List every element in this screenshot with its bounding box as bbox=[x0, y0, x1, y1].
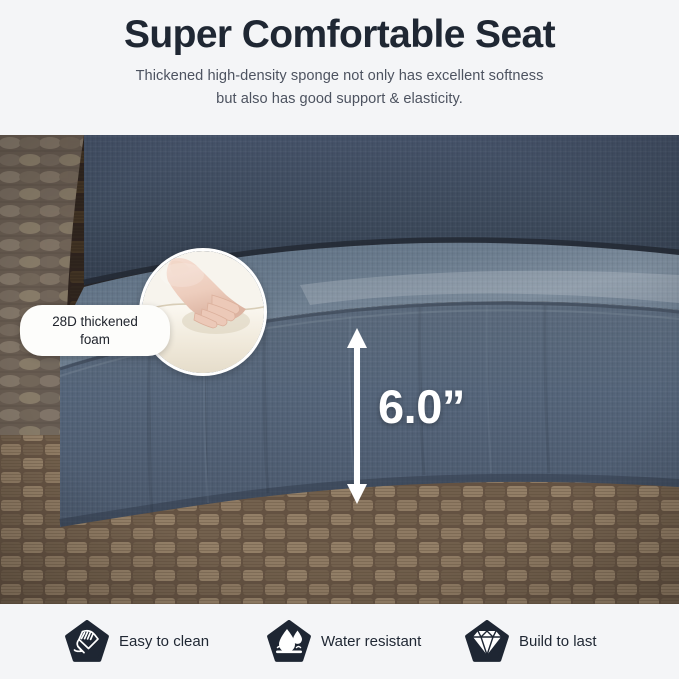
header-band: Super Comfortable Seat Thickened high-de… bbox=[0, 0, 679, 135]
product-photo bbox=[0, 135, 679, 604]
page-subtitle: Thickened high-density sponge not only h… bbox=[136, 65, 544, 109]
page-title: Super Comfortable Seat bbox=[124, 14, 555, 55]
water-drop-icon bbox=[267, 620, 311, 664]
subtitle-line-1: Thickened high-density sponge not only h… bbox=[136, 65, 544, 87]
feature-label: Easy to clean bbox=[119, 633, 209, 650]
dimension-arrow bbox=[343, 328, 371, 504]
feature-bar: Easy to clean Water resistant bbox=[0, 604, 679, 679]
dimension-label: 6.0” bbox=[378, 383, 465, 430]
wiping-hand-icon bbox=[65, 620, 109, 664]
feature-label: Build to last bbox=[519, 633, 597, 650]
diamond-icon bbox=[465, 620, 509, 664]
feature-item-water-resistant: Water resistant bbox=[267, 620, 421, 664]
subtitle-line-2: but also has good support & elasticity. bbox=[136, 88, 544, 110]
feature-label: Water resistant bbox=[321, 633, 421, 650]
foam-callout-pill: 28D thickened foam bbox=[20, 305, 170, 356]
pill-line-2: foam bbox=[30, 331, 160, 349]
double-arrow-icon bbox=[343, 328, 371, 504]
feature-item-easy-to-clean: Easy to clean bbox=[65, 620, 209, 664]
pill-line-1: 28D thickened bbox=[30, 313, 160, 331]
sofa-photo-illustration bbox=[0, 135, 679, 604]
feature-item-build-to-last: Build to last bbox=[465, 620, 597, 664]
product-feature-image: Super Comfortable Seat Thickened high-de… bbox=[0, 0, 679, 679]
